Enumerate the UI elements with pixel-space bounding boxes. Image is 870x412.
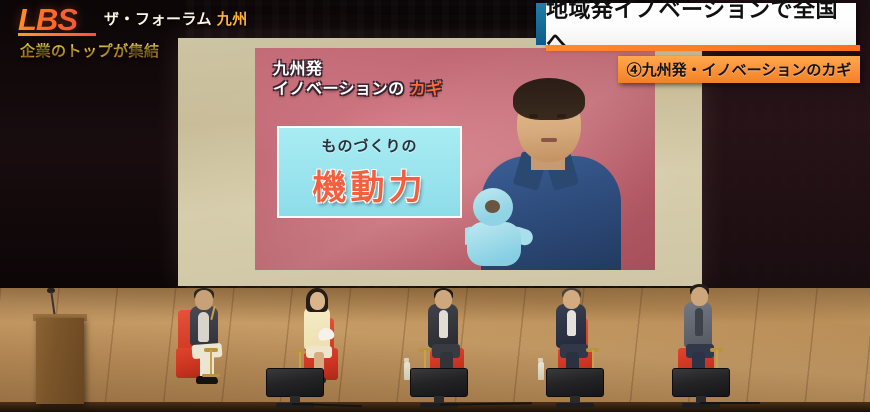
channel-branding: LBS ザ・フォーラム 九州 企業のトップが集結 [0,0,330,62]
podium [36,318,84,404]
floor-cable-3 [700,402,760,404]
panelist-1-mic-stand-pole [210,350,212,376]
panelist-3-shirt [439,310,448,338]
water-bottle-2 [538,362,544,380]
photo-eye-right [557,114,566,118]
panelist-5-head [691,287,708,306]
water-bottle-1-cap [404,358,409,362]
panelist-5-inner-shirt [695,308,703,336]
photo-mouth [541,138,557,142]
panelist-4-head [563,290,580,309]
program-region: 九州 [217,11,248,28]
program-tagline: 企業のトップが集結 [20,40,160,61]
slide-title-accent: カギ [410,81,443,98]
photo-eye-left [529,114,538,118]
monitor-4-screen [672,368,730,397]
monitor-2-screen [410,368,468,397]
slide-title: 九州発 イノベーションの カギ [273,60,443,101]
presentation-slide: 九州発 イノベーションの カギ ものづくりの 機動力 [255,48,655,270]
headline-banner-accent-bar [546,45,860,51]
robot-eye [485,200,500,213]
topic-banner-text: ④九州発・イノベーションのカギ [618,56,860,83]
panelist-1-head [195,290,213,310]
topic-banner: ④九州発・イノベーションのカギ [618,56,860,83]
headline-text: 地域発イノベーションで全国へ [546,3,856,45]
slide-speaker-photo [465,70,630,270]
broadcast-frame: 九州発 イノベーションの カギ ものづくりの 機動力 [0,0,870,412]
panelist-1-shoe [196,376,218,384]
slide-callout-subtext: ものづくりの [279,135,460,156]
water-bottle-1 [404,362,410,380]
robot-prop [465,188,535,270]
monitor-3-foot [556,403,593,408]
photo-hair [513,78,585,120]
monitor-1-screen [266,368,324,397]
monitor-3-screen [546,368,604,397]
slide-callout-box: ものづくりの 機動力 [277,126,462,218]
panelist-4-shirt [567,310,576,336]
monitor-2 [410,368,468,408]
panelist-2-head [310,292,325,310]
panelist-1-mic-stand-foot [202,374,220,377]
program-title: ザ・フォーラム 九州 [104,8,248,29]
robot-body [467,222,521,266]
lbs-logo-underline [18,33,96,36]
panelist-3-head [435,290,452,309]
slide-title-line2: イノベーションの [273,81,410,98]
headline-banner: 地域発イノベーションで全国へ [546,3,856,45]
monitor-3 [546,368,604,408]
panelist-1-shirt [198,312,209,342]
water-bottle-2-cap [538,358,543,362]
program-title-text: ザ・フォーラム [104,11,212,28]
slide-title-line1: 九州発 [273,61,323,78]
slide-callout-maintext: 機動力 [279,160,460,209]
